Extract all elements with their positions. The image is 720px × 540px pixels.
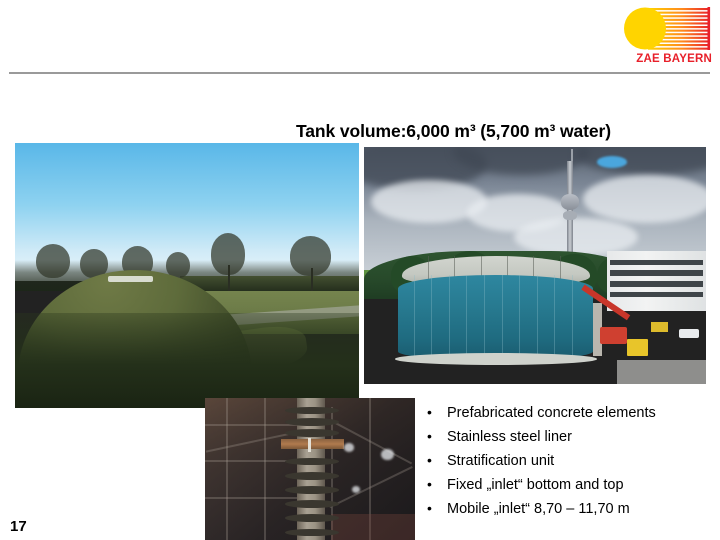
bullet-dot-icon: •: [427, 424, 447, 448]
bare-tree-trunk: [311, 268, 313, 292]
list-item: • Stainless steel liner: [427, 424, 712, 448]
bullet-dot-icon: •: [427, 400, 447, 424]
tank-rib: [449, 275, 450, 360]
tank-rib: [537, 275, 538, 360]
bullet-dot-icon: •: [427, 448, 447, 472]
tank-rib: [554, 275, 555, 360]
balcony-row: [610, 281, 703, 287]
tank-rib: [466, 275, 467, 360]
crane-vehicle: [600, 327, 627, 344]
bare-tree-trunk: [228, 265, 230, 292]
header-divider-rule: [9, 72, 710, 74]
yellow-truck: [627, 339, 648, 356]
scaffold-bar: [205, 424, 297, 426]
photo-tank-interior: [205, 398, 415, 540]
bullet-dot-icon: •: [427, 472, 447, 496]
list-item-label: Mobile „inlet“ 8,70 – 11,70 m: [447, 497, 630, 521]
balcony-row: [610, 270, 703, 276]
olympic-tower-observation-pod: [561, 194, 580, 209]
list-item: • Mobile „inlet“ 8,70 – 11,70 m: [427, 496, 712, 520]
work-lamp: [344, 443, 355, 452]
scaffold-post: [226, 398, 228, 540]
balcony-row: [610, 260, 703, 266]
blue-steel-tank: [398, 275, 593, 360]
tank-rib: [414, 275, 415, 360]
photo-tank-construction: [364, 147, 706, 384]
pipe-marker: [308, 438, 311, 452]
list-item: • Fixed „inlet“ bottom and top: [427, 472, 712, 496]
scaffold-bar: [205, 460, 297, 462]
list-item-label: Stainless steel liner: [447, 425, 572, 449]
gravel-pad: [617, 360, 706, 384]
pipe-collar-band: [281, 439, 344, 449]
tank-rib: [502, 275, 503, 360]
mound-foreground-shadow: [15, 313, 359, 408]
interior-floor: [331, 514, 415, 540]
list-item-label: Fixed „inlet“ bottom and top: [447, 473, 624, 497]
zae-bayern-sun-logo: [612, 6, 712, 54]
pipe-perforation: [285, 486, 340, 494]
tank-rib: [431, 275, 432, 360]
list-item: • Stratification unit: [427, 448, 712, 472]
brand-wordmark: ZAE BAYERN: [612, 53, 712, 65]
pipe-perforation: [285, 472, 340, 480]
scaffold-bar: [205, 497, 297, 499]
scaffold-post: [264, 398, 266, 540]
tank-rib: [519, 275, 520, 360]
yellow-container: [651, 322, 668, 331]
white-car: [679, 329, 700, 337]
logo-block: ZAE BAYERN: [612, 6, 712, 72]
balcony-row: [610, 292, 703, 298]
tank-rib: [572, 275, 573, 360]
mound-crest-structure: [108, 276, 153, 283]
slide-header: ZAE BAYERN: [0, 0, 720, 78]
list-item-label: Stratification unit: [447, 449, 554, 473]
olympic-tower-lower-pod: [563, 211, 577, 220]
apartment-building: [607, 251, 706, 310]
feature-bullet-list: • Prefabricated concrete elements • Stai…: [427, 400, 712, 520]
cloud: [583, 175, 706, 222]
pipe-perforation: [285, 418, 340, 426]
page-number: 17: [10, 518, 27, 535]
slide-title: Tank volume:6,000 m³ (5,700 m³ water): [296, 121, 611, 142]
bullet-dot-icon: •: [427, 496, 447, 520]
tank-concrete-base: [395, 353, 597, 365]
photo-grassy-mound: [15, 143, 359, 408]
list-item: • Prefabricated concrete elements: [427, 400, 712, 424]
tank-rib: [484, 275, 485, 360]
bare-tree-crown: [36, 244, 70, 278]
list-item-label: Prefabricated concrete elements: [447, 401, 656, 425]
